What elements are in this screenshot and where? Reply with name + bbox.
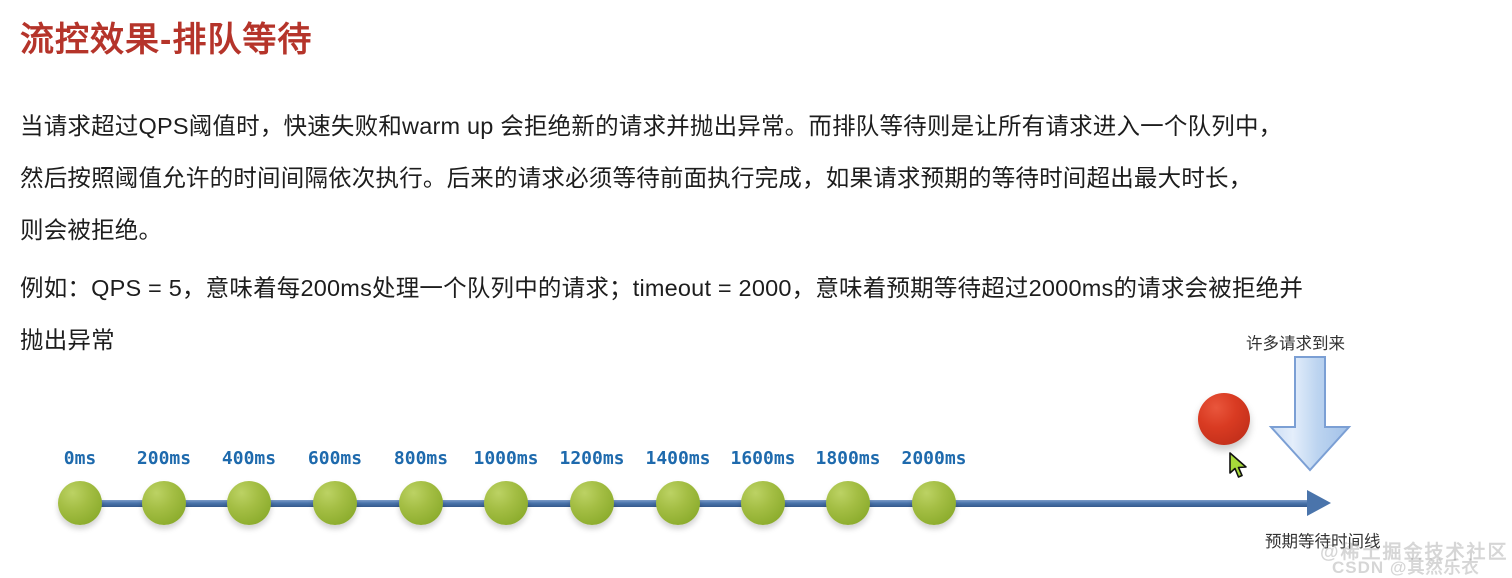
timeline-tick-label: 800ms: [394, 448, 448, 469]
queued-request-ball: [656, 481, 700, 525]
mouse-cursor-icon: [1229, 452, 1251, 480]
timeline-tick-label: 1400ms: [645, 448, 710, 469]
timeline-tick-label: 1000ms: [473, 448, 538, 469]
queued-request-ball: [142, 481, 186, 525]
incoming-request-ball: [1198, 393, 1250, 445]
queued-request-ball: [58, 481, 102, 525]
timeline-arrow-head-icon: [1307, 490, 1331, 516]
expected-wait-timeline-label: 预期等待时间线: [1265, 528, 1381, 552]
queued-request-ball: [741, 481, 785, 525]
paragraph1-line2: 然后按照阈值允许的时间间隔依次执行。后来的请求必须等待前面执行完成，如果请求预期…: [20, 152, 1500, 204]
timeline-tick-label: 600ms: [308, 448, 362, 469]
timeline-tick-label: 0ms: [64, 448, 97, 469]
timeline-tick-label: 2000ms: [901, 448, 966, 469]
timeline-tick-label: 400ms: [222, 448, 276, 469]
incoming-requests-label: 许多请求到来: [1246, 330, 1345, 354]
queue-timeline-diagram: 0ms200ms400ms600ms800ms1000ms1200ms1400m…: [0, 300, 1512, 578]
down-arrow-icon: [1268, 355, 1352, 473]
queued-request-ball: [826, 481, 870, 525]
page-title: 流控效果-排队等待: [20, 12, 312, 61]
timeline-tick-label: 1800ms: [815, 448, 880, 469]
paragraph1-line3: 则会被拒绝。: [20, 204, 1500, 256]
paragraph1-line1: 当请求超过QPS阈值时，快速失败和warm up 会拒绝新的请求并抛出异常。而排…: [20, 100, 1500, 152]
slide-canvas: 流控效果-排队等待 当请求超过QPS阈值时，快速失败和warm up 会拒绝新的…: [0, 0, 1512, 578]
timeline-tick-label: 200ms: [137, 448, 191, 469]
queued-request-ball: [227, 481, 271, 525]
queued-request-ball: [399, 481, 443, 525]
queued-request-ball: [484, 481, 528, 525]
timeline-tick-label: 1200ms: [559, 448, 624, 469]
queued-request-ball: [570, 481, 614, 525]
timeline-tick-label: 1600ms: [730, 448, 795, 469]
queued-request-ball: [912, 481, 956, 525]
queued-request-ball: [313, 481, 357, 525]
